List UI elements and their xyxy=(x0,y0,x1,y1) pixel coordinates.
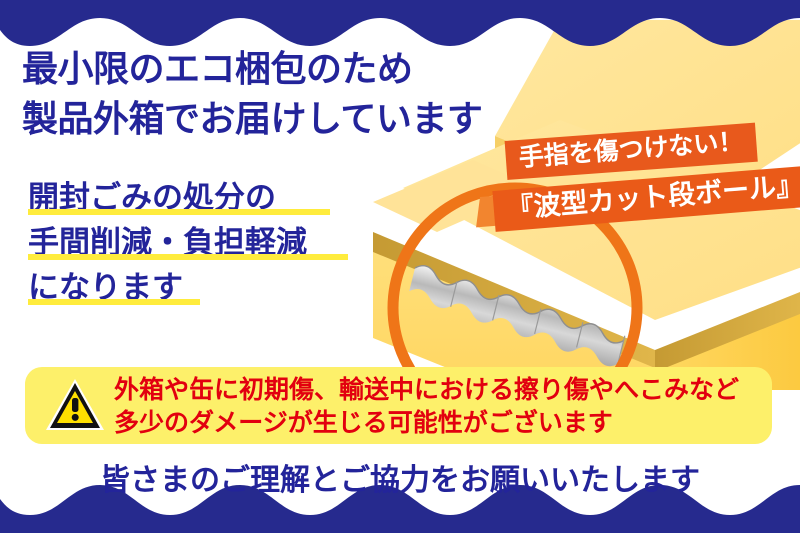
closing-message: 皆さまのご理解とご協力をお願いいたします xyxy=(0,455,800,499)
benefit-text-block: 開封ごみの処分の 手間削減・負担軽減 になります xyxy=(28,182,388,317)
warning-triangle-icon xyxy=(44,376,106,434)
promo-banner-canvas: 最小限のエコ梱包のため 製品外箱でお届けしています 開封ごみの処分の 手間削減・… xyxy=(0,0,800,533)
benefit-line-2: 手間削減・負担軽減 xyxy=(28,227,388,260)
headline-line-2: 製品外箱でお届けしています xyxy=(22,94,552,144)
warning-line-1: 外箱や缶に初期傷、輸送中における擦り傷やへこみなど xyxy=(114,374,739,407)
warning-text: 外箱や缶に初期傷、輸送中における擦り傷やへこみなど 多少のダメージが生じる可能性… xyxy=(114,374,739,440)
headline: 最小限のエコ梱包のため 製品外箱でお届けしています xyxy=(22,44,552,143)
benefit-line-1: 開封ごみの処分の xyxy=(28,182,388,215)
headline-line-1: 最小限のエコ梱包のため xyxy=(22,44,552,94)
benefit-line-3: になります xyxy=(28,272,388,305)
warning-line-2: 多少のダメージが生じる可能性がございます xyxy=(114,407,739,440)
